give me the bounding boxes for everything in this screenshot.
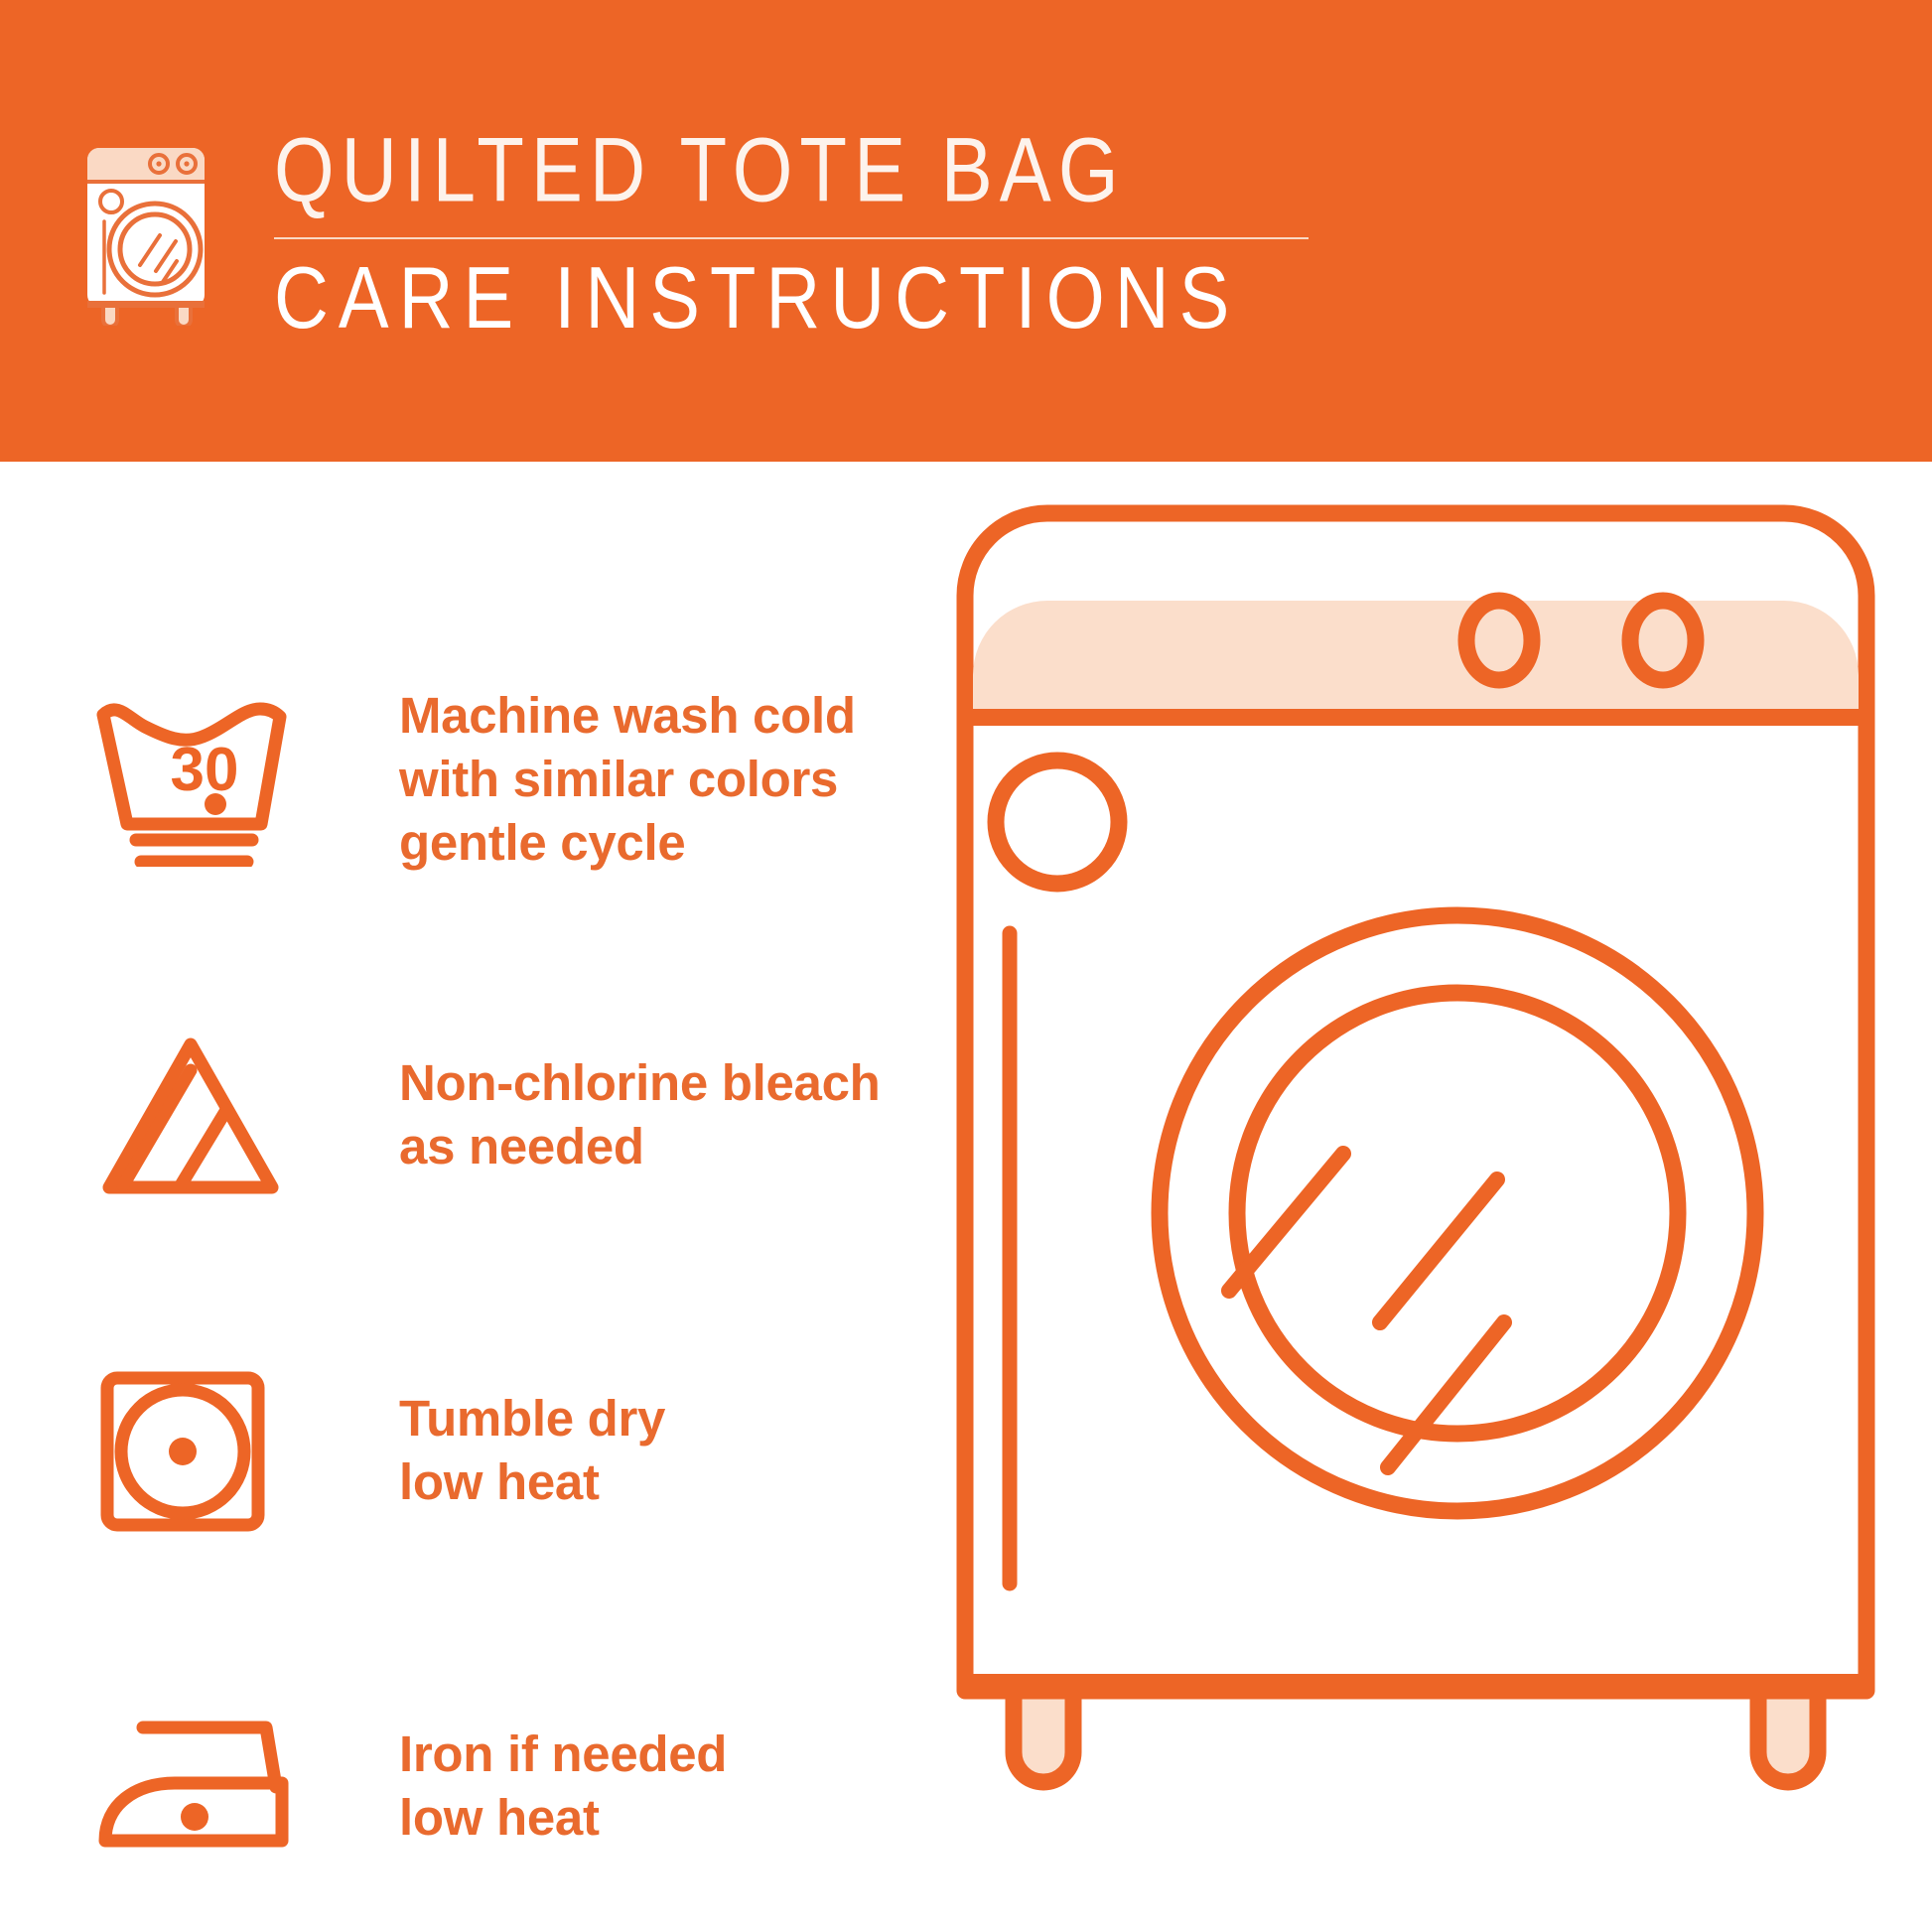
tumble-dry-low-heat-icon [91, 1364, 305, 1538]
page-title: QUILTED TOTE BAG [274, 124, 1309, 220]
wash-temperature-value: 30 [171, 736, 239, 804]
content-area: 30 Machine wash cold with similar colors… [0, 462, 1932, 1932]
care-item-label: Iron if needed low heat [399, 1723, 727, 1851]
care-item-iron: Iron if needed low heat [91, 1662, 935, 1910]
header-titles: QUILTED TOTE BAG CARE INSTRUCTIONS [274, 131, 1309, 337]
non-chlorine-bleach-triangle-icon [91, 1029, 305, 1202]
care-instructions-list: 30 Machine wash cold with similar colors… [91, 655, 935, 1910]
washing-machine-icon [77, 142, 236, 326]
care-item-label: Non-chlorine bleach as needed [399, 1051, 881, 1179]
care-item-label: Machine wash cold with similar colors ge… [399, 684, 856, 876]
iron-low-heat-icon [91, 1700, 305, 1873]
washing-machine-illustration [948, 496, 1881, 1827]
title-divider [274, 237, 1309, 239]
care-item-bleach: Non-chlorine bleach as needed [91, 991, 935, 1239]
care-item-machine-wash: 30 Machine wash cold with similar colors… [91, 655, 935, 903]
header-banner: QUILTED TOTE BAG CARE INSTRUCTIONS [0, 0, 1932, 462]
care-item-tumble-dry: Tumble dry low heat [91, 1326, 935, 1575]
care-item-label: Tumble dry low heat [399, 1387, 665, 1515]
page-subtitle: CARE INSTRUCTIONS [274, 255, 1309, 343]
wash-tub-30-gentle-icon: 30 [91, 693, 305, 867]
header-content: QUILTED TOTE BAG CARE INSTRUCTIONS [77, 131, 1309, 337]
